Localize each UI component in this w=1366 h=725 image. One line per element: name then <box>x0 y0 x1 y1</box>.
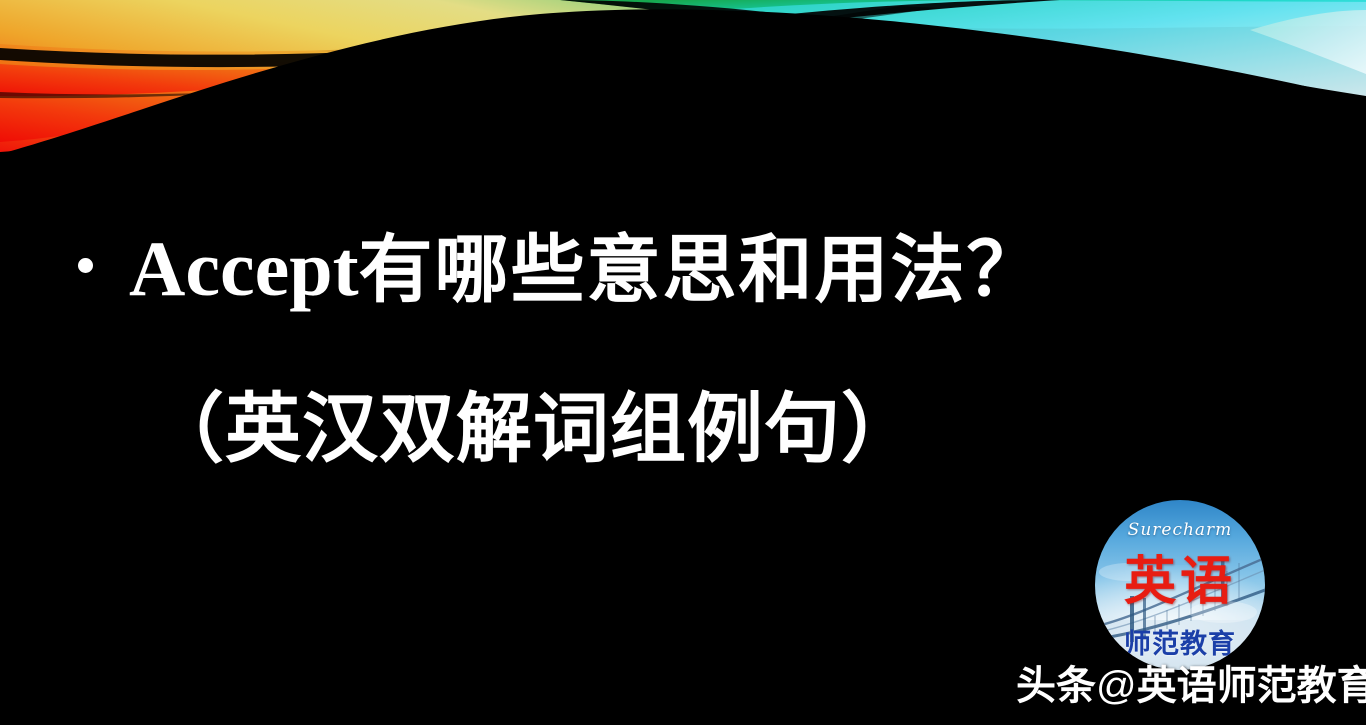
presentation-slide: Accept有哪些意思和用法？ （英汉双解词组例句） <box>0 0 1366 725</box>
title-line-2: （英汉双解词组例句） <box>148 381 918 477</box>
watermark-at-symbol: @ <box>1096 664 1137 708</box>
platform-watermark: 头条@英语师范教育 <box>1016 662 1366 710</box>
title-line-1: Accept有哪些意思和用法？ <box>78 223 1043 317</box>
logo-script-name: Surecharm <box>1095 520 1265 540</box>
decorative-swoosh-banner <box>0 0 1366 180</box>
logo-main-text: 英语 <box>1095 554 1265 610</box>
watermark-account: 英语师范教育 <box>1137 663 1366 709</box>
watermark-platform: 头条 <box>1016 663 1096 709</box>
title-chinese-question: 有哪些意思和用法？ <box>359 227 1043 313</box>
title-english-word: Accept <box>129 225 359 312</box>
bullet-dot-icon <box>78 258 93 273</box>
logo-sub-text: 师范教育 <box>1095 622 1265 661</box>
channel-logo: Surecharm 英语 师范教育 <box>1095 500 1265 670</box>
